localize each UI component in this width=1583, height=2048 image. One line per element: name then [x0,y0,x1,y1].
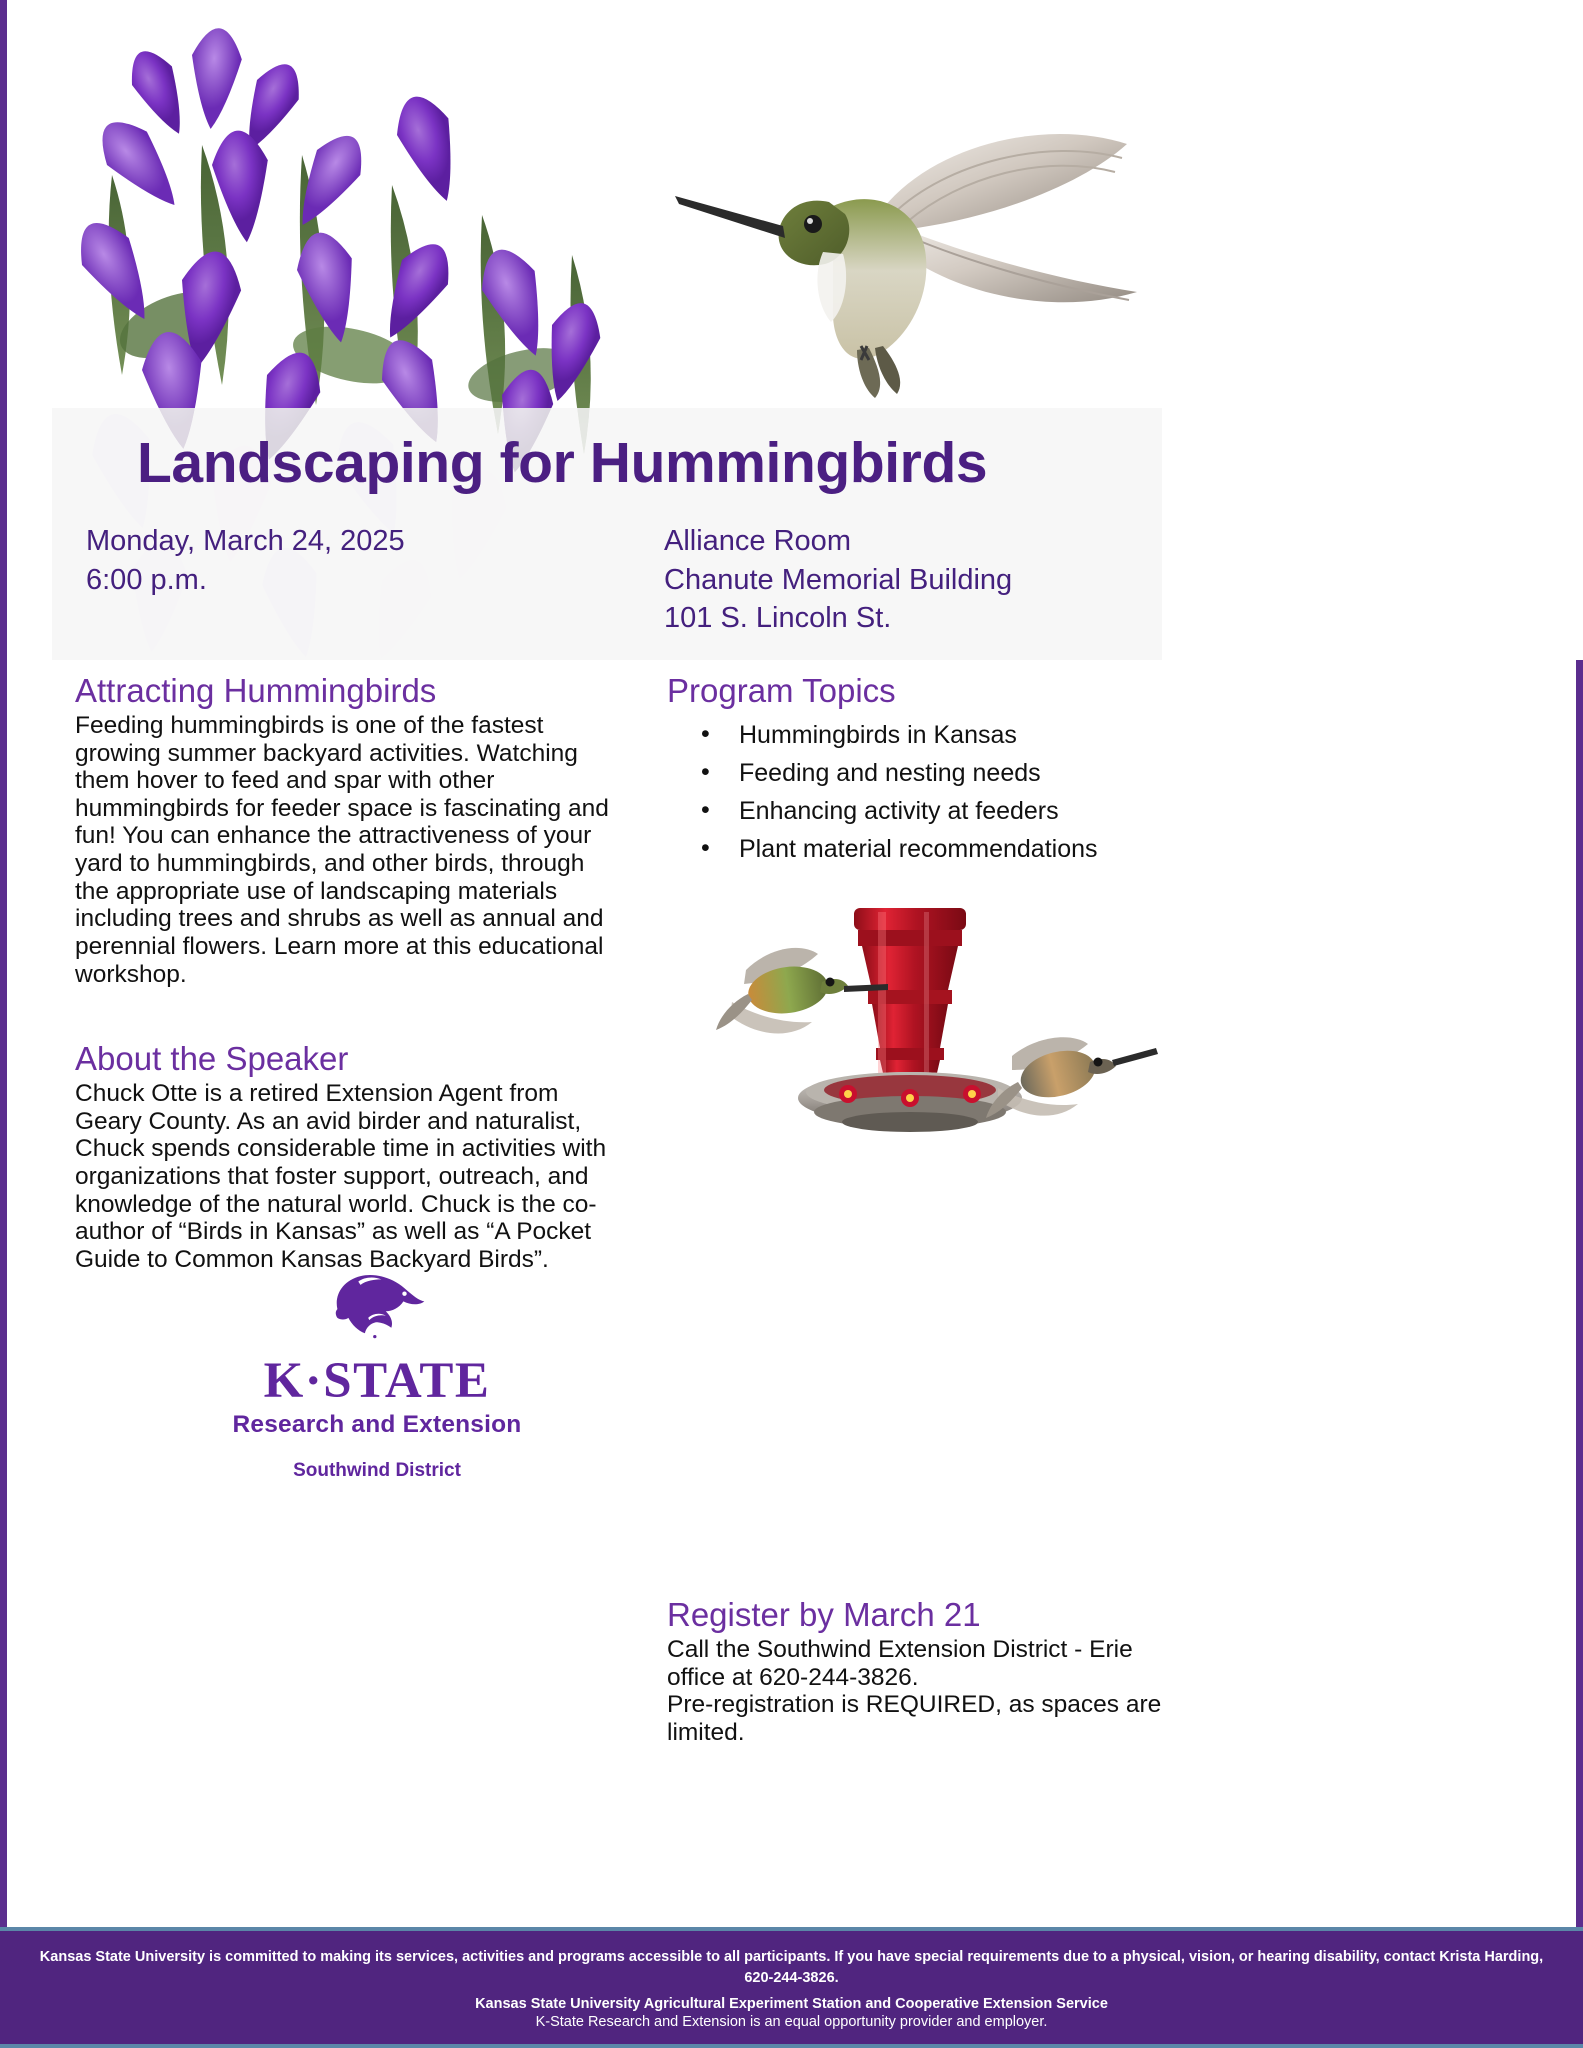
section-gap [75,988,620,1040]
footer-eeo: K-State Research and Extension is an equ… [30,2014,1553,2030]
title-band: Landscaping for Hummingbirds Monday, Mar… [52,408,1162,660]
footer-accessibility: Kansas State University is committed to … [30,1947,1553,1989]
list-item: Feeding and nesting needs [667,754,1187,792]
wildcat-icon [322,1268,432,1348]
hummingbird-right [986,1037,1158,1118]
list-item: Plant material recommendations [667,830,1187,868]
event-time: 6:00 p.m. [86,561,405,600]
kstate-subtitle: Research and Extension [177,1411,577,1439]
topics-list: Hummingbirds in Kansas Feeding and nesti… [667,716,1187,868]
hero-section: Landscaping for Hummingbirds Monday, Mar… [7,0,1583,660]
event-venue: Alliance Room Chanute Memorial Building … [664,522,1012,638]
hero-hummingbird-photo [617,110,1147,410]
venue-address: 101 S. Lincoln St. [664,599,1012,638]
page-title: Landscaping for Hummingbirds [137,430,987,496]
venue-building: Chanute Memorial Building [664,561,1012,600]
feeder-svg [672,898,1172,1198]
event-date: Monday, March 24, 2025 [86,522,405,561]
right-column: Program Topics Hummingbirds in Kansas Fe… [667,672,1187,868]
footer: Kansas State University is committed to … [0,1927,1583,2048]
kstate-logo: K·STATE Research and Extension Southwind… [177,1268,577,1482]
register-body: Call the Southwind Extension District - … [667,1636,1187,1747]
kstate-wordmark: K·STATE [177,1356,577,1407]
kstate-district: Southwind District [177,1460,577,1482]
left-column: Attracting Hummingbirds Feeding hummingb… [75,672,620,1274]
venue-room: Alliance Room [664,522,1012,561]
event-datetime: Monday, March 24, 2025 6:00 p.m. [86,522,405,599]
attracting-body: Feeding hummingbirds is one of the faste… [75,712,620,988]
hummingbird-svg [617,110,1147,410]
list-item: Hummingbirds in Kansas [667,716,1187,754]
hummingbird-left [716,948,888,1034]
hummingbird-feeder-photo [672,898,1172,1188]
list-item: Enhancing activity at feeders [667,792,1187,830]
footer-station: Kansas State University Agricultural Exp… [30,1996,1553,2012]
topics-heading: Program Topics [667,672,1187,710]
speaker-body: Chuck Otte is a retired Extension Agent … [75,1080,620,1273]
speaker-heading: About the Speaker [75,1040,620,1078]
register-block: Register by March 21 Call the Southwind … [667,1596,1187,1746]
attracting-heading: Attracting Hummingbirds [75,672,620,710]
register-heading: Register by March 21 [667,1596,1187,1634]
